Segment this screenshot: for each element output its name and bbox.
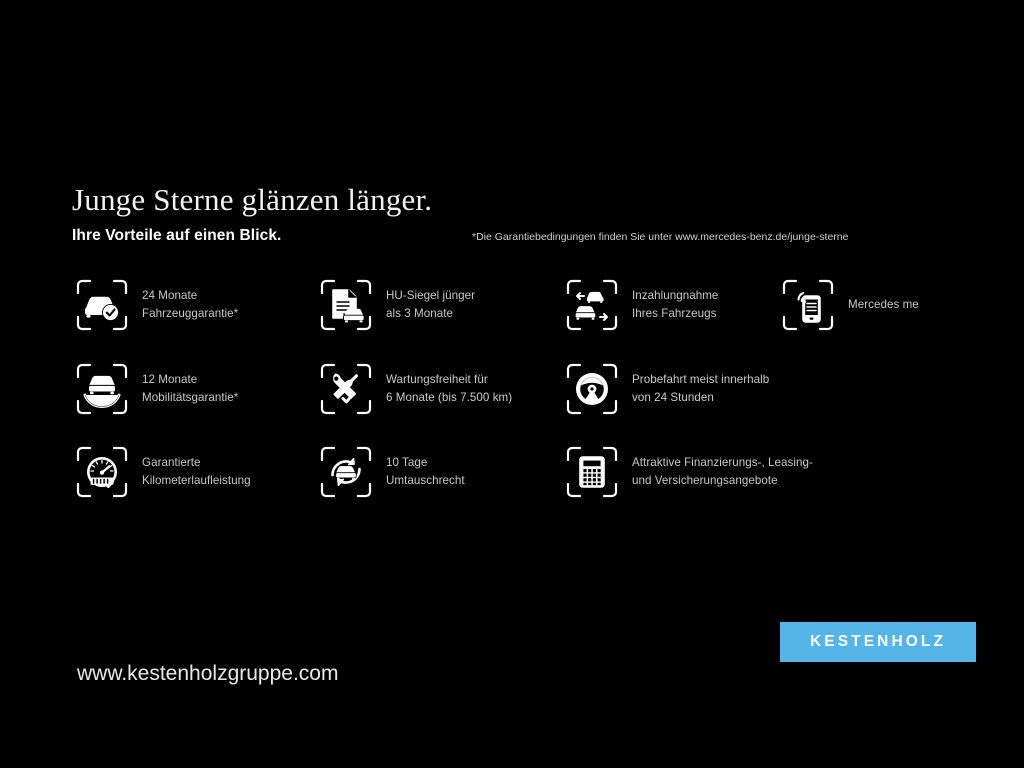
two-cars-exchange-icon	[564, 277, 620, 333]
feature-item: HU-Siegel jünger als 3 Monate	[318, 277, 475, 333]
feature-label: Wartungsfreiheit für 6 Monate (bis 7.500…	[386, 371, 512, 407]
feature-item: 24 Monate Fahrzeuggarantie*	[74, 277, 238, 333]
feature-label: Attraktive Finanzierungs-, Leasing- und …	[632, 454, 813, 490]
car-hand-icon	[74, 361, 130, 417]
feature-label: 24 Monate Fahrzeuggarantie*	[142, 287, 238, 323]
feature-item: Probefahrt meist innerhalb von 24 Stunde…	[564, 361, 769, 417]
speedometer-icon	[74, 444, 130, 500]
feature-label: 12 Monate Mobilitätsgarantie*	[142, 371, 238, 407]
feature-item: Mercedes me	[780, 277, 919, 333]
page-subtitle: Ihre Vorteile auf einen Blick.	[72, 226, 281, 246]
kestenholz-logo: KESTENHOLZ	[780, 622, 976, 662]
wrench-screwdriver-check-icon	[318, 361, 374, 417]
feature-label: HU-Siegel jünger als 3 Monate	[386, 287, 475, 323]
warranty-disclaimer: *Die Garantiebedingungen finden Sie unte…	[472, 230, 848, 244]
website-url[interactable]: www.kestenholzgruppe.com	[77, 660, 338, 688]
car-cycle-arrows-icon	[318, 444, 374, 500]
poster-canvas: Junge Sterne glänzen länger. Ihre Vortei…	[0, 0, 1024, 768]
feature-label: Garantierte Kilometerlaufleistung	[142, 454, 251, 490]
feature-item: 12 Monate Mobilitätsgarantie*	[74, 361, 238, 417]
calculator-icon	[564, 444, 620, 500]
page-title: Junge Sterne glänzen länger.	[72, 182, 432, 218]
feature-item: Wartungsfreiheit für 6 Monate (bis 7.500…	[318, 361, 512, 417]
car-check-icon	[74, 277, 130, 333]
feature-label: 10 Tage Umtauschrecht	[386, 454, 465, 490]
feature-item: Garantierte Kilometerlaufleistung	[74, 444, 251, 500]
smartphone-signal-icon	[780, 277, 836, 333]
feature-item: Inzahlungnahme Ihres Fahrzeugs	[564, 277, 718, 333]
steering-wheel-icon	[564, 361, 620, 417]
kestenholz-logo-text: KESTENHOLZ	[810, 633, 946, 651]
document-car-icon	[318, 277, 374, 333]
feature-label: Probefahrt meist innerhalb von 24 Stunde…	[632, 371, 769, 407]
feature-item: Attraktive Finanzierungs-, Leasing- und …	[564, 444, 813, 500]
feature-label: Mercedes me	[848, 296, 919, 314]
feature-item: 10 Tage Umtauschrecht	[318, 444, 465, 500]
feature-label: Inzahlungnahme Ihres Fahrzeugs	[632, 287, 718, 323]
